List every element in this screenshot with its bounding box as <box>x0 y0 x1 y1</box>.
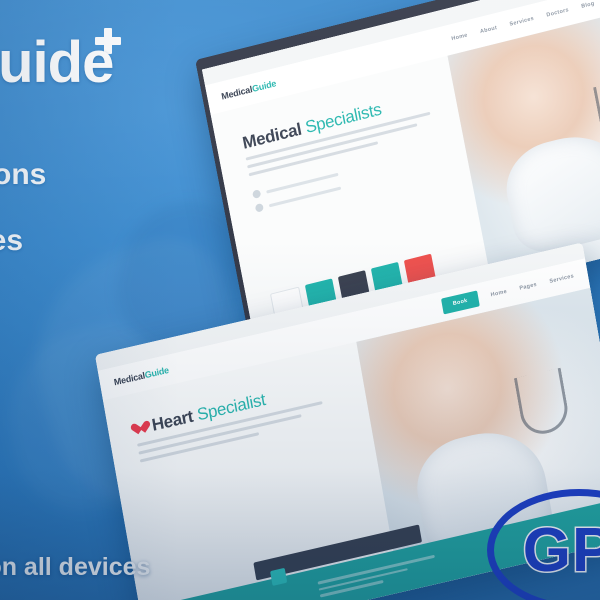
promo-banner: MedicalGuide Home About Services Doctors… <box>0 0 600 600</box>
feature-item: riations <box>0 160 46 190</box>
red-heart-icon <box>134 421 149 436</box>
brand-title: Guide <box>0 34 113 92</box>
tagline: ted on all devices <box>0 553 150 582</box>
nav-item[interactable]: Doctors <box>546 7 569 18</box>
nav-item[interactable]: Services <box>509 16 534 28</box>
site-logo: MedicalGuide <box>221 78 277 101</box>
stethoscope-icon <box>593 75 600 147</box>
bullet-icon <box>252 189 261 199</box>
gpl-stamp-label: GPL <box>523 515 600 586</box>
nav-item[interactable]: About <box>480 25 498 35</box>
nav-item[interactable]: Home <box>451 32 468 42</box>
nav-item[interactable]: Blog <box>581 1 595 10</box>
nav-item[interactable]: Pages <box>519 282 537 292</box>
site-logo: MedicalGuide <box>113 365 169 387</box>
bullet-icon <box>255 203 264 213</box>
nav-item[interactable]: Services <box>549 273 574 285</box>
nav-cta-button[interactable]: Book <box>441 290 480 314</box>
feature-item: hemes <box>0 226 23 256</box>
nav-item[interactable]: Home <box>490 289 507 299</box>
footer-tile <box>270 568 287 586</box>
stethoscope-icon <box>514 368 571 439</box>
